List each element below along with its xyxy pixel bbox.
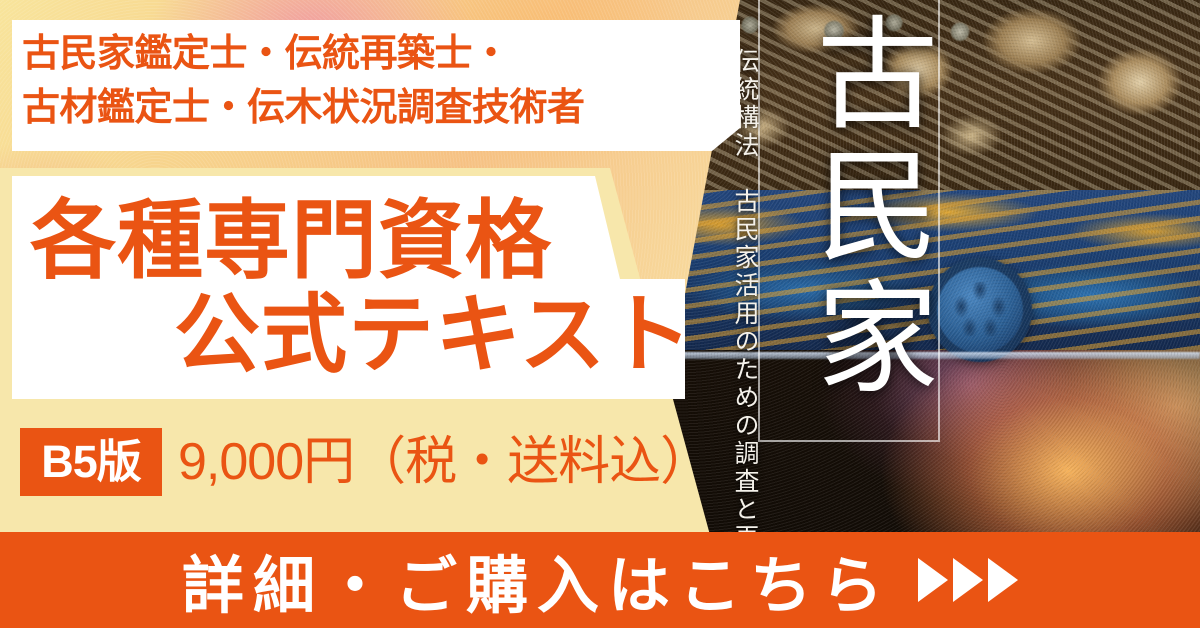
headline-panel: 各種専門資格 公式テキスト [12,176,685,399]
certifications-line-2: 古材鑑定士・伝木状況調査技術者 [22,82,740,136]
headline-line-2: 公式テキスト [174,264,693,389]
promotional-banner[interactable]: 伝統構法 古民家活用のための調査と再生の 古民家 古民家鑑定士・伝統再築士・ 古… [0,0,1200,628]
book-cover-title: 古民家 [768,10,928,406]
certifications-panel: 古民家鑑定士・伝統再築士・ 古材鑑定士・伝木状況調査技術者 [12,20,740,151]
cta-arrow-group [918,558,1018,602]
triangle-right-icon-3 [988,558,1018,602]
certifications-line-1: 古民家鑑定士・伝統再築士・ [22,28,740,82]
cta-label: 詳細・ご購入はこちら [182,535,892,625]
triangle-right-icon-1 [918,558,948,602]
family-crest-medallion-icon [928,258,1032,362]
certifications-text: 古民家鑑定士・伝統再築士・ 古材鑑定士・伝木状況調査技術者 [22,28,740,136]
cta-bar[interactable]: 詳細・ご購入はこちら [0,532,1200,628]
triangle-right-icon-2 [953,558,983,602]
price-text: 9,000円（税・送料込） [178,428,711,496]
format-badge: B5版 [20,428,162,496]
